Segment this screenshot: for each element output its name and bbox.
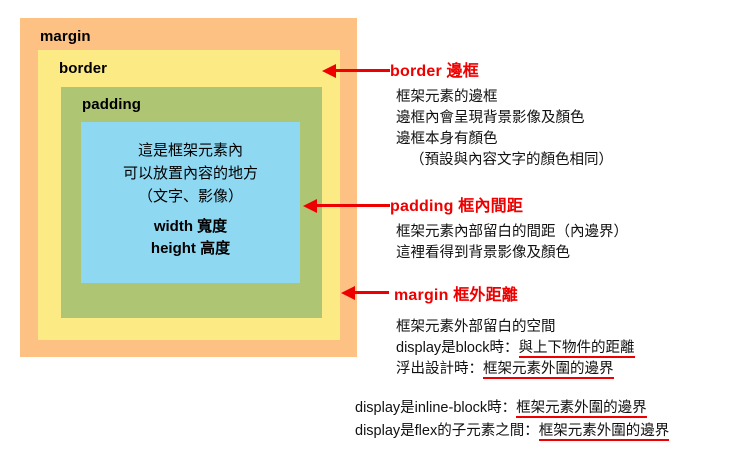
footer-line-1-underlined: 框架元素外圍的邊界 <box>516 400 647 418</box>
footer-line-2: display是flex的子元素之間：框架元素外圍的邊界 <box>355 420 669 443</box>
notes-column: border 邊框 框架元素的邊框 邊框內會呈現背景影像及顏色 邊框本身有顏色 … <box>390 0 750 461</box>
content-dimension-lines: width 寬度 height 高度 <box>81 216 300 260</box>
arrow-head <box>303 199 317 213</box>
arrow-shaft <box>332 69 390 72</box>
margin-note-body: 框架元素外部留白的空間 display是block時：與上下物件的距離 浮出設計… <box>396 317 635 380</box>
footer-note-block: display是inline-block時：框架元素外圍的邊界 display是… <box>355 397 669 443</box>
border-note-line-2: 邊框內會呈現背景影像及顏色 <box>396 108 613 129</box>
margin-note-line-2-underlined: 與上下物件的距離 <box>519 340 635 358</box>
content-line-1: 這是框架元素內 <box>81 139 300 162</box>
content-width-line: width 寬度 <box>81 216 300 238</box>
content-box-text: 這是框架元素內 可以放置內容的地方 （文字、影像） width 寬度 heigh… <box>81 139 300 260</box>
border-note-line-1: 框架元素的邊框 <box>396 87 613 108</box>
border-note-line-4: （預設與內容文字的顏色相同） <box>396 150 613 171</box>
border-note-body: 框架元素的邊框 邊框內會呈現背景影像及顏色 邊框本身有顏色 （預設與內容文字的顏… <box>396 87 613 171</box>
arrow-head <box>341 286 355 300</box>
padding-note-line-2: 這裡看得到背景影像及顏色 <box>396 243 628 264</box>
arrow-shaft <box>351 291 389 294</box>
content-line-2: 可以放置內容的地方 <box>81 162 300 185</box>
border-layer-label: border <box>59 60 107 77</box>
border-note-heading: border 邊框 <box>390 57 479 81</box>
padding-layer-label: padding <box>82 96 141 113</box>
margin-layer-label: margin <box>40 28 91 45</box>
footer-line-1: display是inline-block時：框架元素外圍的邊界 <box>355 397 669 420</box>
padding-note-heading: padding 框內間距 <box>390 192 523 216</box>
footer-line-2-text: display是flex的子元素之間： <box>355 423 539 439</box>
footer-line-1-text: display是inline-block時： <box>355 400 516 416</box>
border-note-line-3: 邊框本身有顏色 <box>396 129 613 150</box>
margin-note-line-1: 框架元素外部留白的空間 <box>396 317 635 338</box>
margin-note-heading: margin 框外距離 <box>394 281 518 305</box>
margin-note-line-2-text: display是block時： <box>396 340 519 356</box>
padding-note-body: 框架元素內部留白的間距（內邊界） 這裡看得到背景影像及顏色 <box>396 222 628 264</box>
padding-note-line-1: 框架元素內部留白的間距（內邊界） <box>396 222 628 243</box>
margin-note-line-1-text: 框架元素外部留白的空間 <box>396 319 556 335</box>
arrow-shaft <box>313 204 390 207</box>
margin-note-line-3-text: 浮出設計時： <box>396 361 483 377</box>
margin-note-line-2: display是block時：與上下物件的距離 <box>396 338 635 359</box>
content-line-3: （文字、影像） <box>81 185 300 208</box>
footer-line-2-underlined: 框架元素外圍的邊界 <box>539 423 670 441</box>
margin-note-line-3: 浮出設計時：框架元素外圍的邊界 <box>396 359 635 380</box>
box-model-diagram-page: margin border padding 這是框架元素內 可以放置內容的地方 … <box>0 0 750 461</box>
content-height-line: height 高度 <box>81 238 300 260</box>
margin-note-line-3-underlined: 框架元素外圍的邊界 <box>483 361 614 379</box>
arrow-head <box>322 64 336 78</box>
